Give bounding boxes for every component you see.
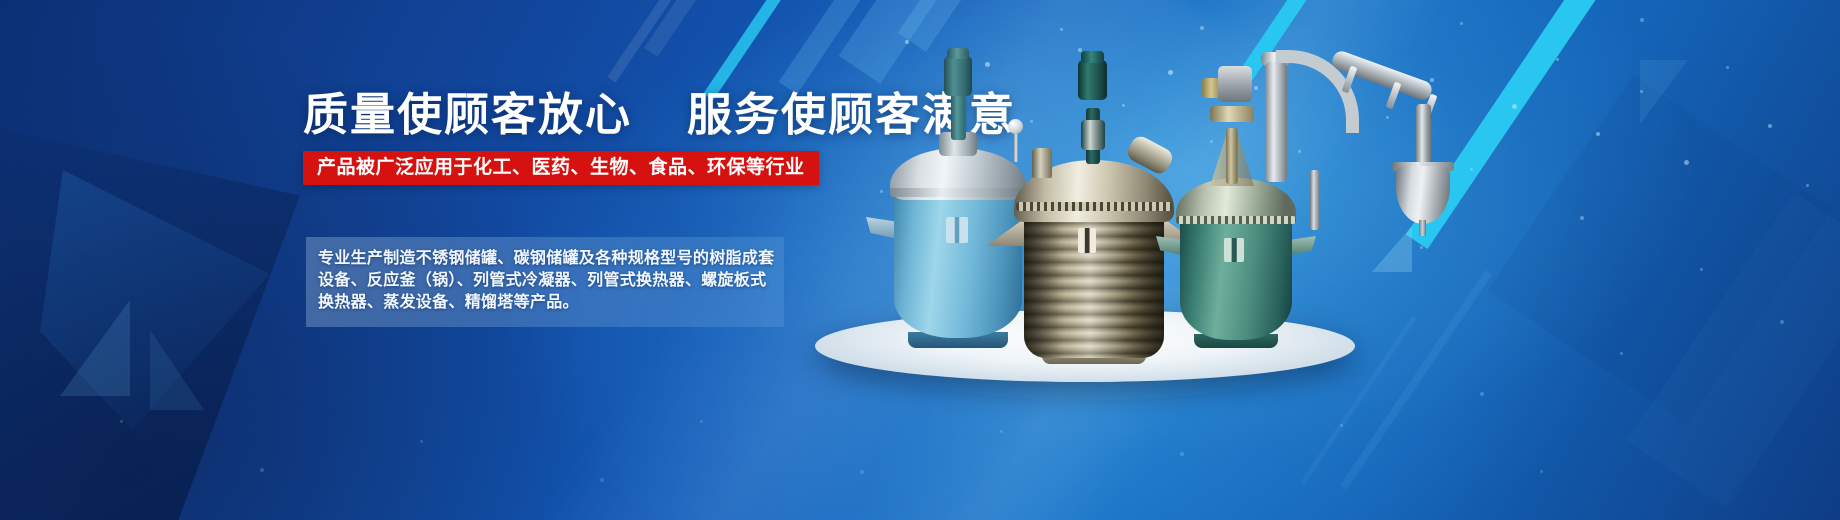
vessel-b-motor: [1078, 60, 1107, 100]
vessel-b-coupler: [1081, 120, 1105, 150]
vessel-c-gearbox: [1210, 106, 1254, 122]
description-line-1: 专业生产制造不锈钢储罐、碳钢储罐及各种规格型号的树脂成套: [318, 248, 788, 270]
vessel-a-gauge-ball: [1008, 119, 1023, 134]
vessel-a-agitator-shaft: [951, 92, 966, 140]
vessel-b-sight-glass: [1078, 228, 1096, 253]
headline-part1: 质量使顾客放心: [303, 89, 632, 140]
vessel-b-nozzle-left: [1032, 148, 1052, 178]
vessel-b-bolt-flange: [1016, 202, 1172, 211]
tower-side-pipe: [1310, 170, 1319, 230]
vessel-a-body: [894, 188, 1022, 338]
vessel-b-motor-cap: [1081, 51, 1104, 63]
copy-block: 质量使顾客放心 服务使顾客满意 产品被广泛应用于化工、医药、生物、食品、环保等行…: [0, 0, 830, 520]
vessel-a-rim: [890, 188, 1026, 197]
description-line-3: 换热器、蒸发设备、精馏塔等产品。: [318, 292, 788, 314]
receiver-leg: [1419, 220, 1426, 236]
product-photo-group: [790, 20, 1390, 400]
vessel-c-agitator-shaft: [1226, 128, 1238, 184]
vessel-a-motor: [944, 56, 972, 96]
vessel-a-motor-cap: [947, 48, 969, 59]
vessel-c-bolt-ring: [1176, 216, 1296, 224]
description-line-2: 设备、反应釜（锅）、列管式冷凝器、列管式换热器、螺旋板式: [318, 270, 788, 292]
description-text: 专业生产制造不锈钢储罐、碳钢储罐及各种规格型号的树脂成套 设备、反应釜（锅）、列…: [318, 248, 788, 314]
vessel-c-motor: [1218, 66, 1252, 102]
vessel-c-body: [1180, 212, 1292, 340]
industries-badge: 产品被广泛应用于化工、医药、生物、食品、环保等行业: [303, 151, 819, 185]
promo-banner: 质量使顾客放心 服务使顾客满意 产品被广泛应用于化工、医药、生物、食品、环保等行…: [0, 0, 1840, 520]
vessel-c-sight-glass: [1224, 238, 1244, 262]
vessel-a-sight-glass: [946, 217, 968, 243]
